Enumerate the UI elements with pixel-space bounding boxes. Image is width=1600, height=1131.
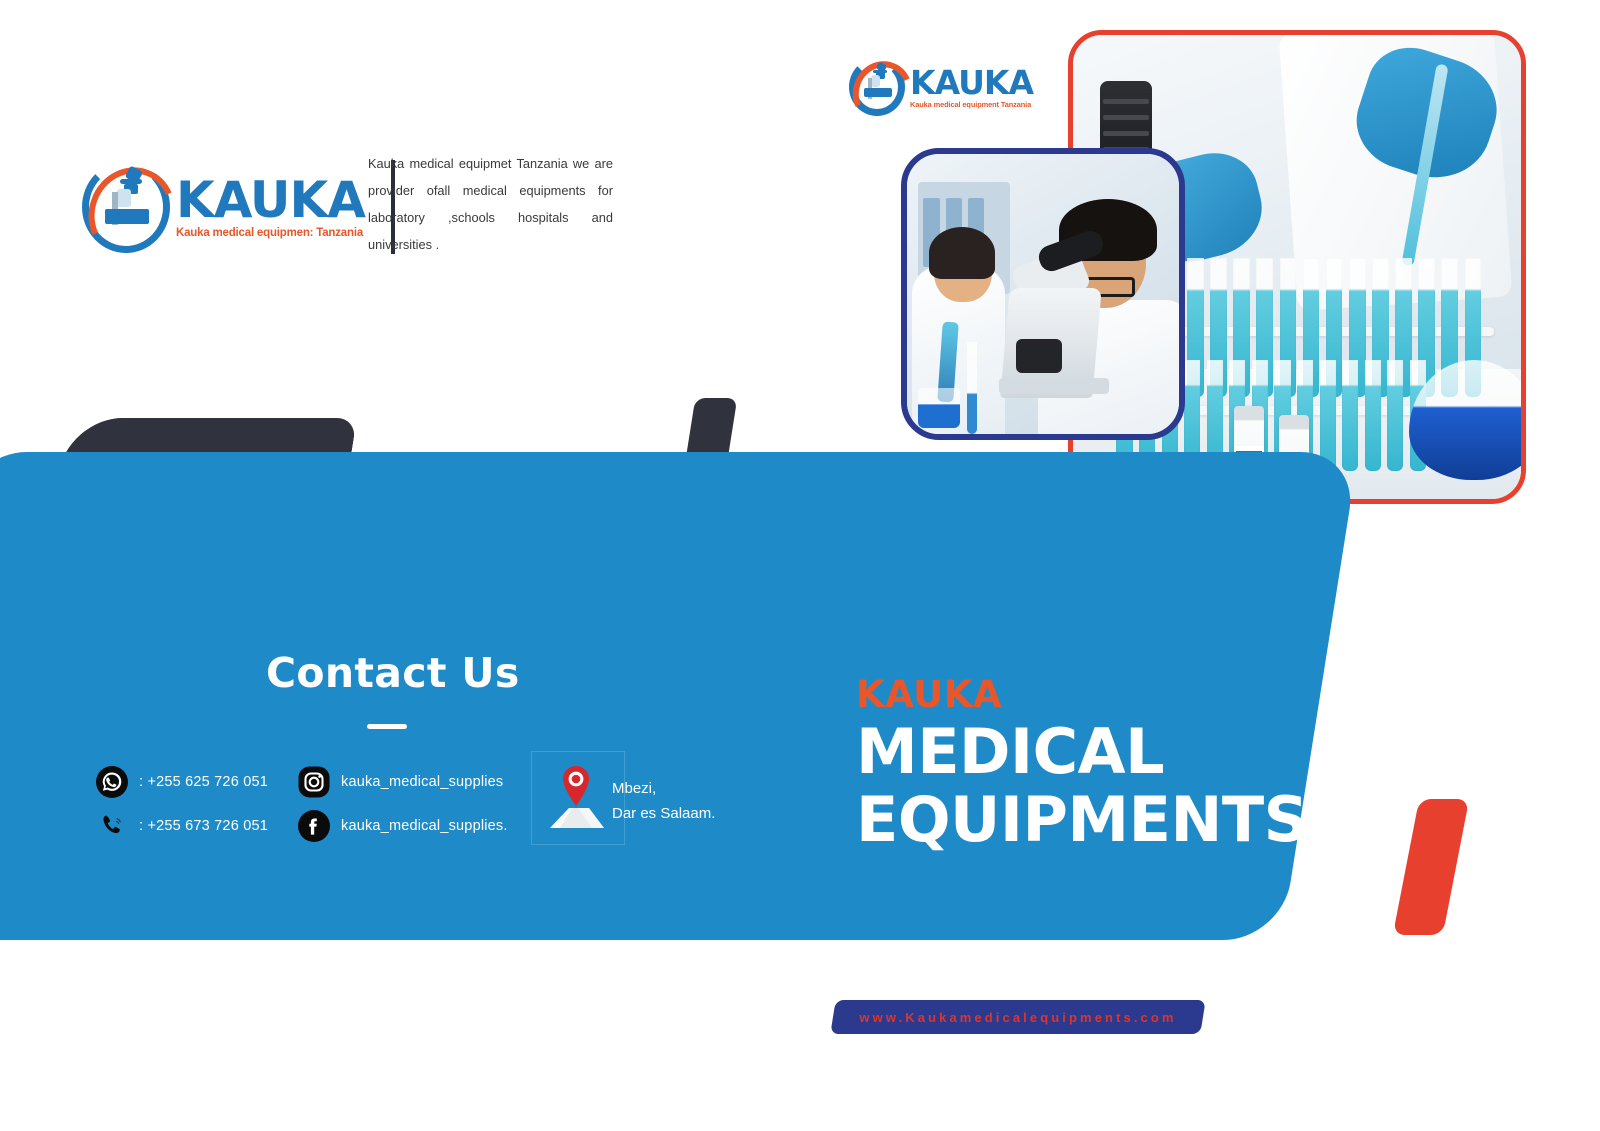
headline-line1: MEDICAL [856,721,1331,783]
flyer-canvas: KAUKA Kauka medical equipmen: Tanzania K… [0,0,1600,1131]
secondary-logo: KAUKA Kauka medical equipment Tanzania [849,58,1033,116]
location-line1: Mbezi, [612,780,656,797]
headline-line2: EQUIPMENTS. [856,789,1331,851]
facebook-handle: kauka_medical_supplies. [341,818,508,834]
contact-row-instagram[interactable]: kauka_medical_supplies [297,760,508,804]
lab-photo-small [901,148,1185,440]
phone-column: : +255 625 726 051 : +255 673 726 051 [95,760,268,848]
contact-row-whatsapp[interactable]: : +255 625 726 051 [95,760,268,804]
whatsapp-icon [95,765,129,799]
headline-block: KAUKA MEDICAL EQUIPMENTS. [856,676,1331,851]
instagram-handle: kauka_medical_supplies [341,774,503,790]
kauka-logo-icon-small [849,58,905,116]
secondary-logo-name: KAUKA [910,66,1033,99]
facebook-icon [297,809,331,843]
logo-name: KAUKA [176,175,365,225]
contact-row-phone[interactable]: : +255 673 726 051 [95,804,268,848]
contact-heading: Contact Us [266,649,520,697]
instagram-icon [297,765,331,799]
social-column: kauka_medical_supplies kauka_medical_sup… [297,760,508,848]
red-bar-shape [1393,799,1469,935]
location-text: Mbezi, Dar es Salaam. [612,776,715,826]
map-pin-icon [548,762,606,834]
kauka-logo-icon [82,161,170,253]
headline-eyebrow: KAUKA [856,676,1331,715]
phone-number: : +255 673 726 051 [139,818,268,834]
website-url[interactable]: www.Kaukamedicalequipments.com [833,1000,1203,1034]
secondary-logo-tagline: Kauka medical equipment Tanzania [910,100,1033,109]
phone-icon [95,809,129,843]
location-line2: Dar es Salaam. [612,805,715,822]
contact-underline [367,724,407,729]
logo-tagline: Kauka medical equipmen: Tanzania [176,227,365,239]
header-logo: KAUKA Kauka medical equipmen: Tanzania [82,160,395,254]
intro-paragraph: Kauka medical equipmet Tanzania we are p… [368,150,613,258]
contact-row-facebook[interactable]: kauka_medical_supplies. [297,804,508,848]
location-block[interactable]: Mbezi, Dar es Salaam. [548,762,715,834]
whatsapp-number: : +255 625 726 051 [139,774,268,790]
logo-wordmark: KAUKA Kauka medical equipmen: Tanzania [176,175,365,239]
